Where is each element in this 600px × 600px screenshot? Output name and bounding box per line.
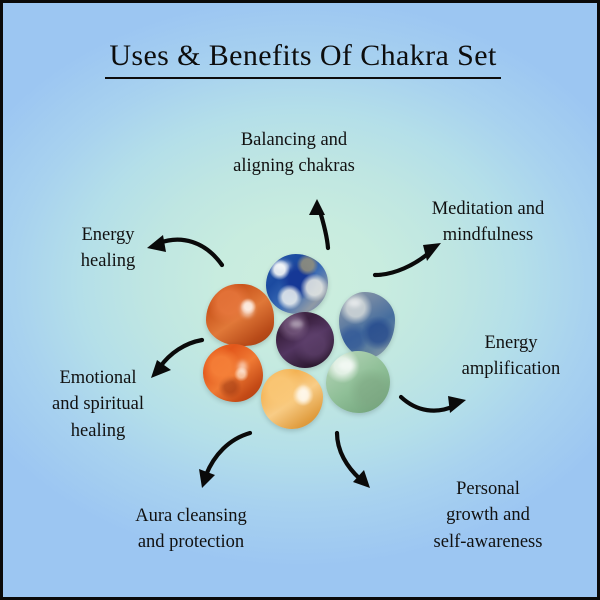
arrow-to-energy-amplification [401, 396, 466, 413]
stone-highlight [238, 361, 248, 374]
stone-highlight [298, 385, 309, 403]
chakra-stone-cluster [198, 246, 408, 436]
stone-highlight [275, 261, 291, 270]
green-aventurine-stone [326, 351, 390, 413]
benefit-label-meditation: Meditation and mindfulness [393, 196, 583, 249]
benefit-label-emotional-spiritual-healing: Emotional and spiritual healing [9, 365, 187, 444]
carnelian-stone [203, 344, 263, 402]
page-title: Uses & Benefits Of Chakra Set [105, 39, 500, 79]
infographic-poster: Uses & Benefits Of Chakra Set [0, 0, 600, 600]
arrow-to-personal-growth [337, 433, 370, 488]
carnelian-stone [206, 284, 274, 346]
lapis-lazuli-stone [266, 254, 328, 314]
stone-highlight [338, 360, 356, 371]
title-container: Uses & Benefits Of Chakra Set [3, 39, 600, 79]
citrine-stone [261, 369, 323, 429]
stone-highlight [290, 320, 303, 328]
benefit-label-aura-cleansing: Aura cleansing and protection [89, 503, 293, 556]
arrow-to-balancing [309, 199, 328, 248]
stone-highlight [348, 299, 361, 307]
arrow-to-aura-cleansing [199, 433, 250, 488]
benefit-label-energy-amplification: Energy amplification [425, 330, 597, 383]
sodalite-stone [339, 292, 395, 358]
benefit-label-personal-growth: Personal growth and self-awareness [389, 476, 587, 555]
stone-highlight [241, 301, 253, 317]
amethyst-stone [276, 312, 334, 368]
benefit-label-energy-healing: Energy healing [25, 222, 191, 275]
benefit-label-balancing: Balancing and aligning chakras [181, 127, 407, 180]
